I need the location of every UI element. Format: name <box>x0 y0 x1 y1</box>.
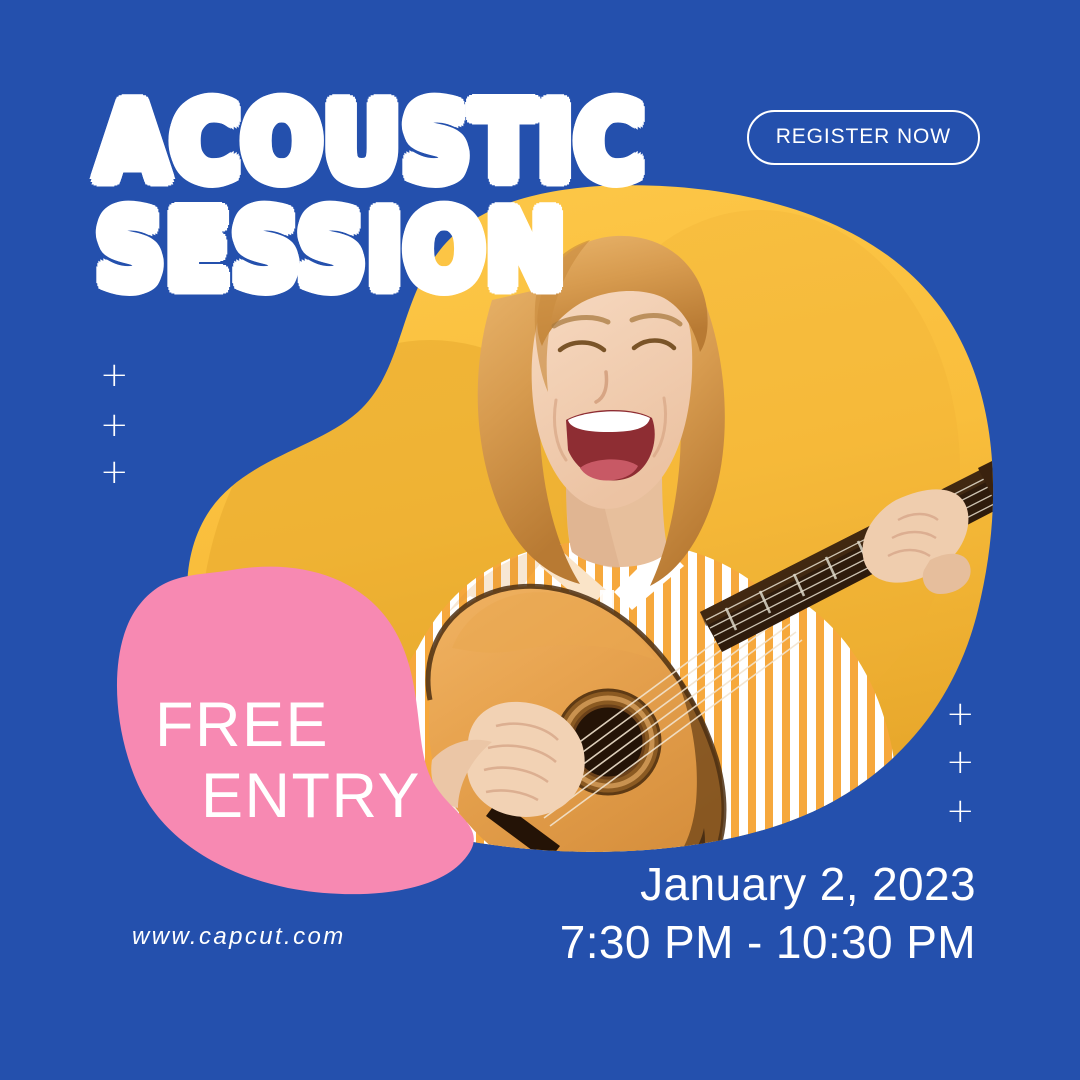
poster-canvas: ACOUSTIC SESSION REGISTER NOW FREE ENTRY… <box>0 0 1080 1080</box>
register-now-button[interactable]: REGISTER NOW <box>747 110 980 165</box>
